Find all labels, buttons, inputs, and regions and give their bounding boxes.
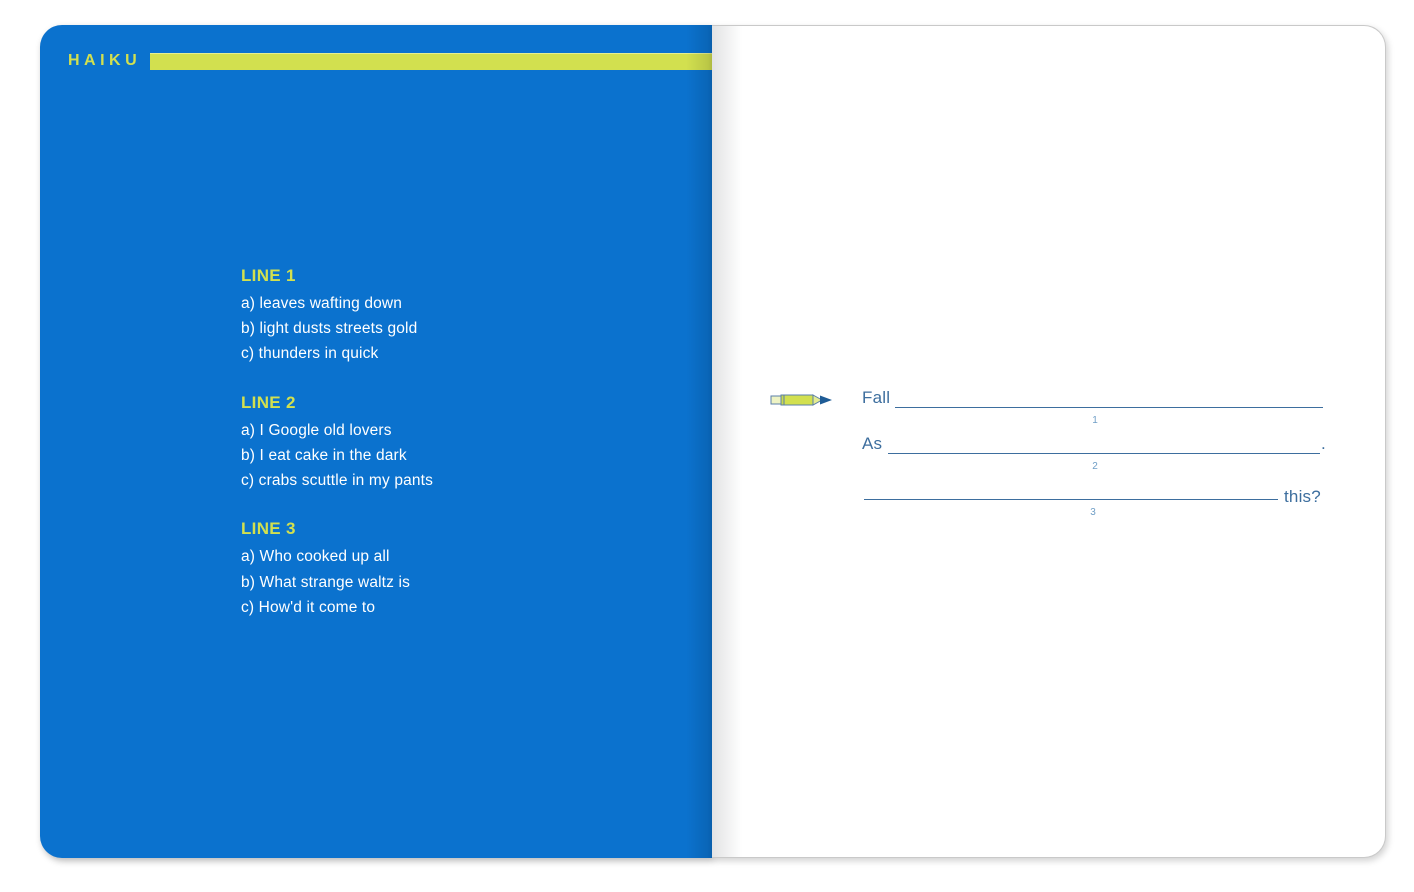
fill-row-2: As 2 . [740, 427, 1340, 473]
line-group-1: LINE 1 a) leaves wafting down b) light d… [241, 265, 671, 367]
fill-row-trail-text: this? [1284, 488, 1321, 505]
choice-option[interactable]: b) What strange waltz is [241, 570, 671, 595]
choice-option[interactable]: c) crabs scuttle in my pants [241, 468, 671, 493]
right-page: Fall 1 As 2 . 3 this? [712, 25, 1386, 858]
fill-row-lead-text: Fall [862, 389, 890, 406]
choice-option[interactable]: b) light dusts streets gold [241, 316, 671, 341]
blank-number-label: 1 [1085, 416, 1105, 426]
line-group-heading: LINE 2 [241, 392, 671, 413]
header-accent-bar [150, 53, 712, 70]
choice-option[interactable]: c) thunders in quick [241, 341, 671, 366]
fill-row-lead-text: As [862, 435, 882, 452]
choice-option[interactable]: a) Who cooked up all [241, 544, 671, 569]
pencil-icon [770, 392, 842, 408]
notebook-spread: HAIKU LINE 1 a) leaves wafting down b) l… [0, 0, 1414, 892]
line-group-heading: LINE 1 [241, 265, 671, 286]
choice-option[interactable]: a) I Google old lovers [241, 418, 671, 443]
choice-option[interactable]: b) I eat cake in the dark [241, 443, 671, 468]
line-group-3: LINE 3 a) Who cooked up all b) What stra… [241, 518, 671, 620]
blank-input-line-2[interactable] [888, 453, 1320, 454]
fill-row-3: 3 this? [740, 473, 1340, 519]
period-punctuation: . [1321, 435, 1326, 452]
blank-number-label: 2 [1085, 462, 1105, 472]
fill-in-form: Fall 1 As 2 . 3 this? [740, 381, 1340, 519]
fill-row-1: Fall 1 [740, 381, 1340, 427]
blank-input-line-1[interactable] [895, 407, 1323, 408]
page-title: HAIKU [68, 53, 141, 69]
line-group-2: LINE 2 a) I Google old lovers b) I eat c… [241, 392, 671, 494]
choice-option[interactable]: c) How'd it come to [241, 595, 671, 620]
page-header: HAIKU [68, 51, 712, 71]
blank-input-line-3[interactable] [864, 499, 1278, 500]
line-group-heading: LINE 3 [241, 518, 671, 539]
blank-number-label: 3 [1083, 508, 1103, 518]
left-page: HAIKU LINE 1 a) leaves wafting down b) l… [40, 25, 712, 858]
choice-option[interactable]: a) leaves wafting down [241, 291, 671, 316]
haiku-options-list: LINE 1 a) leaves wafting down b) light d… [241, 265, 671, 620]
